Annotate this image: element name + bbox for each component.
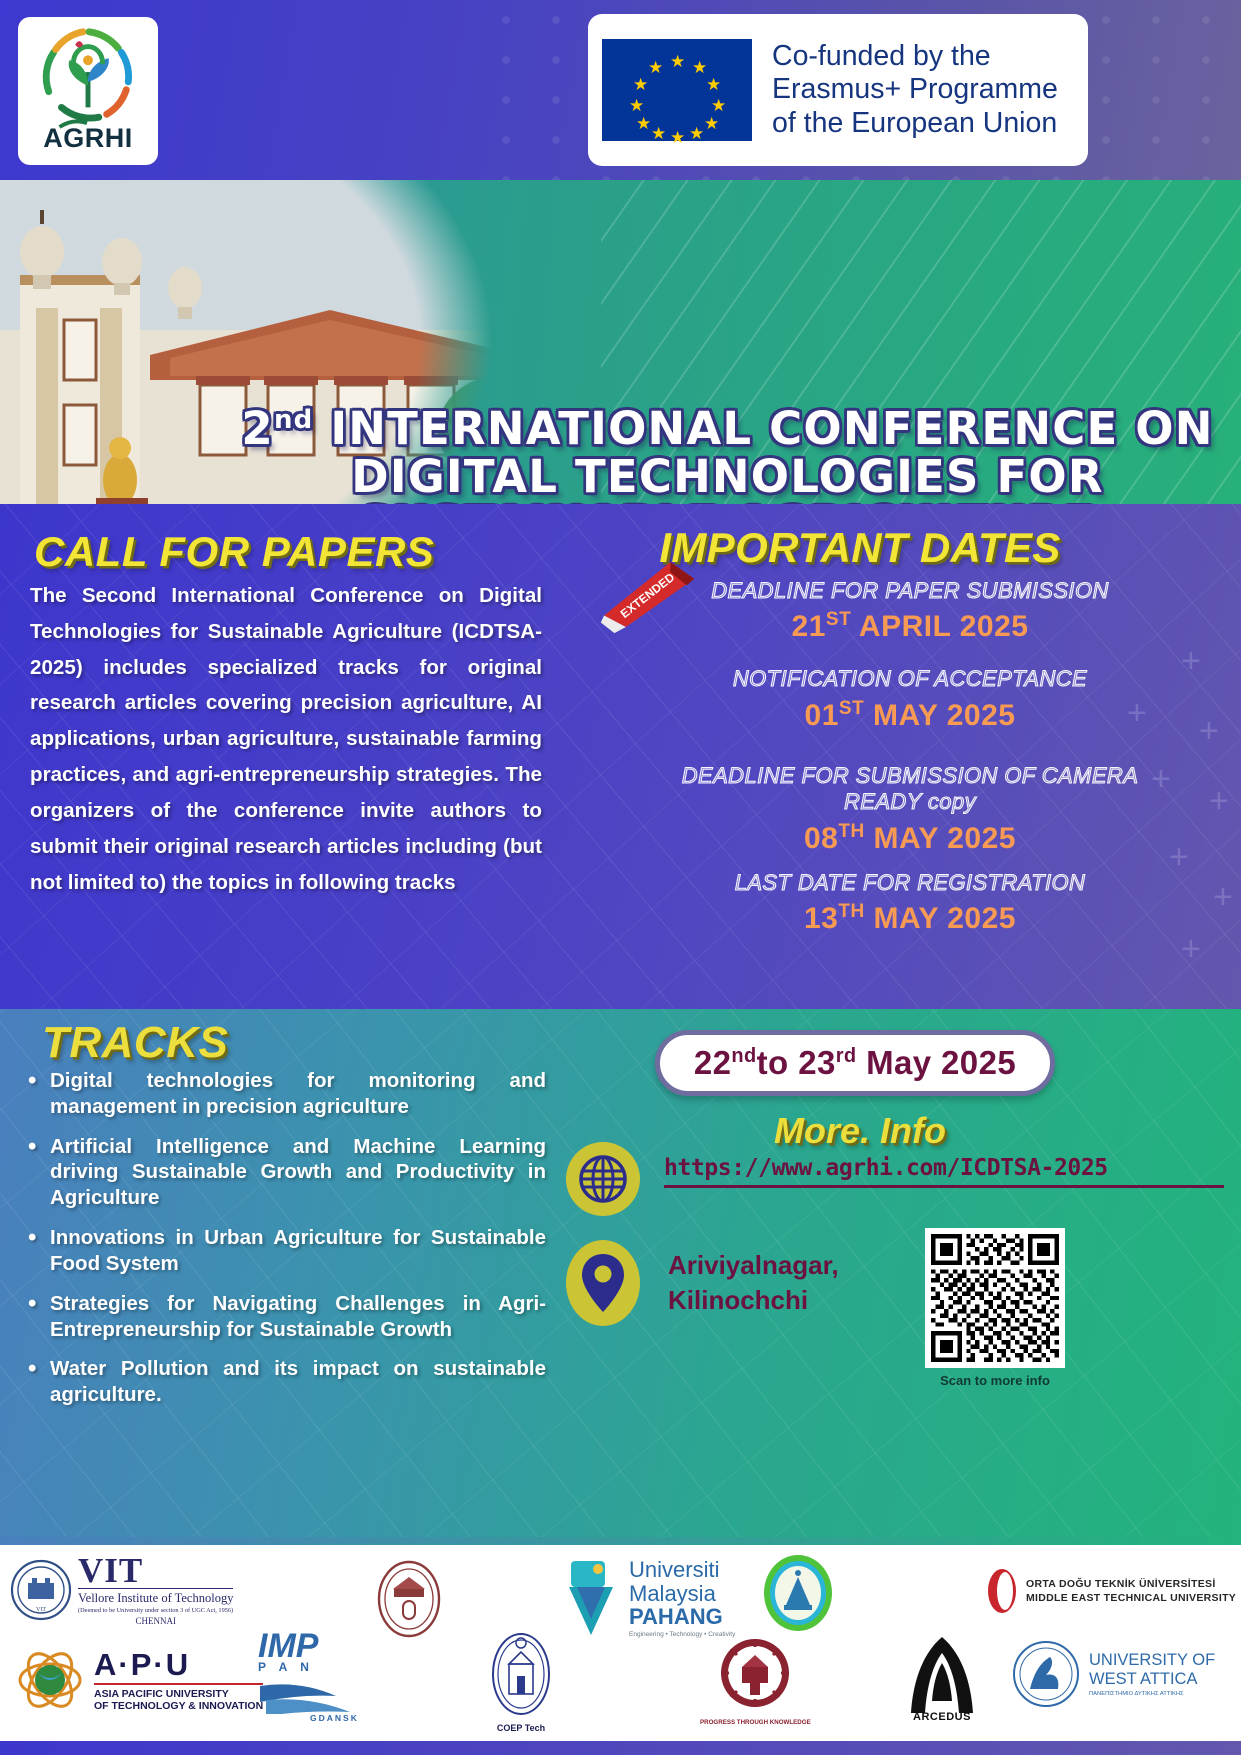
- title-line-1-text: INTERNATIONAL CONFERENCE ON: [330, 402, 1213, 455]
- eu-funding-text: Co-funded by the Erasmus+ Programme of t…: [772, 40, 1058, 139]
- date-row: EXTENDED DEADLINE FOR PAPER SUBMISSION 2…: [600, 578, 1220, 644]
- metu-mark-icon: [985, 1567, 1019, 1615]
- partner-logo: VIT VIT Vellore Institute of Technology …: [10, 1553, 233, 1626]
- ordinal-number: 2: [241, 402, 274, 455]
- partner-logo: [370, 1559, 448, 1639]
- track-text: Innovations in Urban Agriculture for Sus…: [50, 1225, 546, 1277]
- date-row: NOTIFICATION OF ACCEPTANCE 01ST MAY 2025: [600, 666, 1220, 732]
- coep-tech-card: COEP Tech: [468, 1623, 574, 1739]
- event-date-end: 23: [798, 1044, 836, 1081]
- eu-funding-badge: ★ ★ ★ ★ ★ ★ ★ ★ ★ ★ ★ ★ Co-funded by the…: [588, 14, 1088, 166]
- track-text: Water Pollution and its impact on sustai…: [50, 1356, 546, 1408]
- apu-rule: [94, 1683, 263, 1685]
- track-text: Artificial Intelligence and Machine Lear…: [50, 1134, 546, 1211]
- list-item: • Digital technologies for monitoring an…: [28, 1068, 546, 1120]
- date-ordinal: TH: [838, 821, 864, 842]
- date-rest: APRIL 2025: [859, 610, 1029, 643]
- imp-pan-text-block: IMP P A N GDANSK: [258, 1631, 368, 1723]
- qr-code[interactable]: [925, 1228, 1065, 1368]
- date-ordinal: ST: [839, 698, 864, 719]
- vit-seal-icon: VIT: [10, 1559, 72, 1621]
- metu-title-tr: ORTA DOĞU TEKNİK ÜNİVERSİTESİ: [1026, 1578, 1236, 1590]
- eu-line-3: of the European Union: [772, 107, 1058, 140]
- date-day: 13: [804, 902, 838, 935]
- arcedus-arch-icon: [905, 1633, 979, 1717]
- list-item: • Innovations in Urban Agriculture for S…: [28, 1225, 546, 1277]
- list-item: • Strategies for Navigating Challenges i…: [28, 1291, 546, 1343]
- strip-divider-bottom: [0, 1741, 1241, 1755]
- partner-logos-strip: VIT VIT Vellore Institute of Technology …: [0, 1545, 1241, 1741]
- event-date-badge: 22ndto 23rd May 2025: [655, 1030, 1055, 1096]
- bullet-icon: •: [28, 1225, 50, 1277]
- date-value: 08TH MAY 2025: [600, 821, 1220, 856]
- vit-sub-2: (Deemed to be University under section 3…: [78, 1607, 233, 1614]
- partner-logo: UNIVERSITY OF WEST ATTICA ΠΑΝΕΠΙΣΤΗΜΙΟ Δ…: [1010, 1637, 1215, 1711]
- date-day: 21: [792, 610, 826, 643]
- event-date-text: 22ndto 23rd May 2025: [694, 1044, 1016, 1082]
- date-label: NOTIFICATION OF ACCEPTANCE: [600, 666, 1220, 692]
- date-value: 01ST MAY 2025: [600, 698, 1220, 733]
- svg-text:VIT: VIT: [36, 1607, 46, 1613]
- call-for-papers-heading: CALL FOR PAPERS: [34, 528, 434, 576]
- globe-icon: [577, 1153, 629, 1205]
- agrhi-logo-text: AGRHI: [43, 125, 133, 152]
- coep-seal-icon: [487, 1630, 555, 1722]
- metu-title-en: MIDDLE EAST TECHNICAL UNIVERSITY: [1026, 1592, 1236, 1604]
- location-pin-icon: [580, 1252, 626, 1314]
- ump-line-3: PAHANG: [629, 1605, 735, 1629]
- list-item: • Artificial Intelligence and Machine Le…: [28, 1134, 546, 1211]
- eu-line-2: Erasmus+ Programme: [772, 73, 1058, 106]
- call-for-papers-body: The Second International Conference on D…: [30, 578, 542, 900]
- date-rest: MAY 2025: [874, 822, 1016, 855]
- metu-text-block: ORTA DOĞU TEKNİK ÜNİVERSİTESİ MIDDLE EAS…: [1026, 1578, 1236, 1604]
- partner-logo: A·P·U ASIA PACIFIC UNIVERSITY OF TECHNOL…: [14, 1643, 263, 1717]
- apu-title: A·P·U: [94, 1649, 263, 1680]
- agrhi-logo: AGRHI: [18, 17, 158, 165]
- uniwa-seal-icon: [1010, 1637, 1082, 1711]
- vit-sub-3: CHENNAI: [78, 1616, 233, 1626]
- location-pin-badge: [566, 1240, 640, 1326]
- ptk-logo-block: PROGRESS THROUGH KNOWLEDGE: [700, 1633, 811, 1726]
- uniwa-line-3: ΠΑΝΕΠΙΣΤΗΜΙΟ ΔΥΤΙΚΗΣ ΑΤΤΙΚΗΣ: [1089, 1691, 1215, 1697]
- qr-code-image: [931, 1234, 1059, 1362]
- ordinal-suffix: nd: [274, 405, 314, 435]
- date-ordinal: ST: [826, 609, 851, 630]
- tracks-list: • Digital technologies for monitoring an…: [28, 1068, 546, 1422]
- list-item: • Water Pollution and its impact on sust…: [28, 1356, 546, 1408]
- partner-logo: IMP P A N GDANSK: [258, 1631, 368, 1723]
- vit-title: VIT: [78, 1553, 233, 1588]
- event-date-start: 22: [694, 1044, 732, 1081]
- partner-logo: COEP Tech: [468, 1623, 574, 1739]
- date-label: DEADLINE FOR SUBMISSION OF CAMERA READY …: [600, 763, 1220, 816]
- bullet-icon: •: [28, 1068, 50, 1120]
- track-text: Strategies for Navigating Challenges in …: [50, 1291, 546, 1343]
- conference-title: 2nd INTERNATIONAL CONFERENCE ON DIGITAL …: [225, 405, 1230, 504]
- apu-sub-2: OF TECHNOLOGY & INNOVATION: [94, 1700, 263, 1712]
- apu-atom-icon: [14, 1643, 86, 1717]
- partner-logo: PROGRESS THROUGH KNOWLEDGE: [700, 1633, 811, 1726]
- partner-logo: Universiti Malaysia PAHANG Engineering •…: [565, 1557, 735, 1639]
- event-date-month: May 2025: [866, 1044, 1016, 1081]
- date-day: 08: [804, 822, 838, 855]
- vit-text-block: VIT Vellore Institute of Technology (Dee…: [78, 1553, 233, 1626]
- eu-flag: ★ ★ ★ ★ ★ ★ ★ ★ ★ ★ ★ ★: [602, 39, 752, 141]
- date-row: LAST DATE FOR REGISTRATION 13TH MAY 2025: [600, 870, 1220, 936]
- event-date-start-ord: nd: [731, 1045, 756, 1067]
- uniwa-line-2: WEST ATTICA: [1089, 1670, 1215, 1688]
- date-label: LAST DATE FOR REGISTRATION: [600, 870, 1220, 896]
- tracks-heading: TRACKS: [42, 1018, 228, 1068]
- bullet-icon: •: [28, 1356, 50, 1408]
- arcedus-wordmark: ARCEDUS: [913, 1711, 971, 1723]
- globe-icon-badge: [566, 1142, 640, 1216]
- bullet-icon: •: [28, 1291, 50, 1343]
- qr-caption: Scan to more info: [905, 1373, 1085, 1388]
- ptk-caption: PROGRESS THROUGH KNOWLEDGE: [700, 1719, 811, 1726]
- agrhi-emblem-icon: [34, 21, 142, 129]
- coep-caption: COEP Tech: [497, 1723, 545, 1733]
- conference-title-line-1: 2nd INTERNATIONAL CONFERENCE ON: [225, 405, 1230, 453]
- poster-header: AGRHI ★ ★ ★ ★ ★ ★ ★ ★ ★ ★ ★ ★ Co-funded …: [0, 0, 1241, 180]
- imp-title: IMP: [258, 1631, 368, 1662]
- date-ordinal: TH: [838, 901, 864, 922]
- imp-wave-icon: [258, 1672, 368, 1714]
- university-of-jaffna-seal-icon: [370, 1559, 448, 1639]
- date-rest: MAY 2025: [873, 699, 1015, 732]
- apu-sub-1: ASIA PACIFIC UNIVERSITY: [94, 1688, 263, 1700]
- conference-poster: AGRHI ★ ★ ★ ★ ★ ★ ★ ★ ★ ★ ★ ★ Co-funded …: [0, 0, 1241, 1755]
- vit-sub-1: Vellore Institute of Technology: [78, 1588, 233, 1606]
- important-dates-list: EXTENDED DEADLINE FOR PAPER SUBMISSION 2…: [600, 578, 1220, 949]
- apu-text-block: A·P·U ASIA PACIFIC UNIVERSITY OF TECHNOL…: [94, 1649, 263, 1712]
- green-seal-icon: [760, 1553, 836, 1633]
- partner-logo: [760, 1553, 836, 1633]
- conference-url-link[interactable]: https://www.agrhi.com/ICDTSA-2025: [664, 1155, 1224, 1188]
- uniwa-text-block: UNIVERSITY OF WEST ATTICA ΠΑΝΕΠΙΣΤΗΜΙΟ Δ…: [1089, 1651, 1215, 1697]
- gear-seal-icon: [712, 1633, 798, 1717]
- date-value: 21ST APRIL 2025: [600, 609, 1220, 644]
- ump-line-1: Universiti: [629, 1558, 735, 1582]
- partner-logo: ARCEDUS: [905, 1633, 979, 1723]
- date-day: 01: [805, 699, 839, 732]
- hero-banner: 2nd INTERNATIONAL CONFERENCE ON DIGITAL …: [0, 180, 1241, 504]
- ump-line-2: Malaysia: [629, 1582, 735, 1606]
- conference-title-line-2: DIGITAL TECHNOLOGIES FOR: [225, 453, 1230, 501]
- track-text: Digital technologies for monitoring and …: [50, 1068, 546, 1120]
- event-date-join: to: [757, 1044, 789, 1081]
- bullet-icon: •: [28, 1134, 50, 1211]
- more-info-heading: More. Info: [700, 1110, 1020, 1152]
- partner-logo: ORTA DOĞU TEKNİK ÜNİVERSİTESİ MIDDLE EAS…: [985, 1567, 1236, 1615]
- event-date-end-ord: rd: [836, 1045, 857, 1067]
- ump-text-block: Universiti Malaysia PAHANG Engineering •…: [629, 1558, 735, 1638]
- date-rest: MAY 2025: [874, 902, 1016, 935]
- arcedus-logo-block: ARCEDUS: [905, 1633, 979, 1723]
- uniwa-line-1: UNIVERSITY OF: [1089, 1651, 1215, 1669]
- imp-sub-2: GDANSK: [310, 1713, 368, 1723]
- date-value: 13TH MAY 2025: [600, 901, 1220, 936]
- date-row: DEADLINE FOR SUBMISSION OF CAMERA READY …: [600, 763, 1220, 856]
- eu-line-1: Co-funded by the: [772, 40, 1058, 73]
